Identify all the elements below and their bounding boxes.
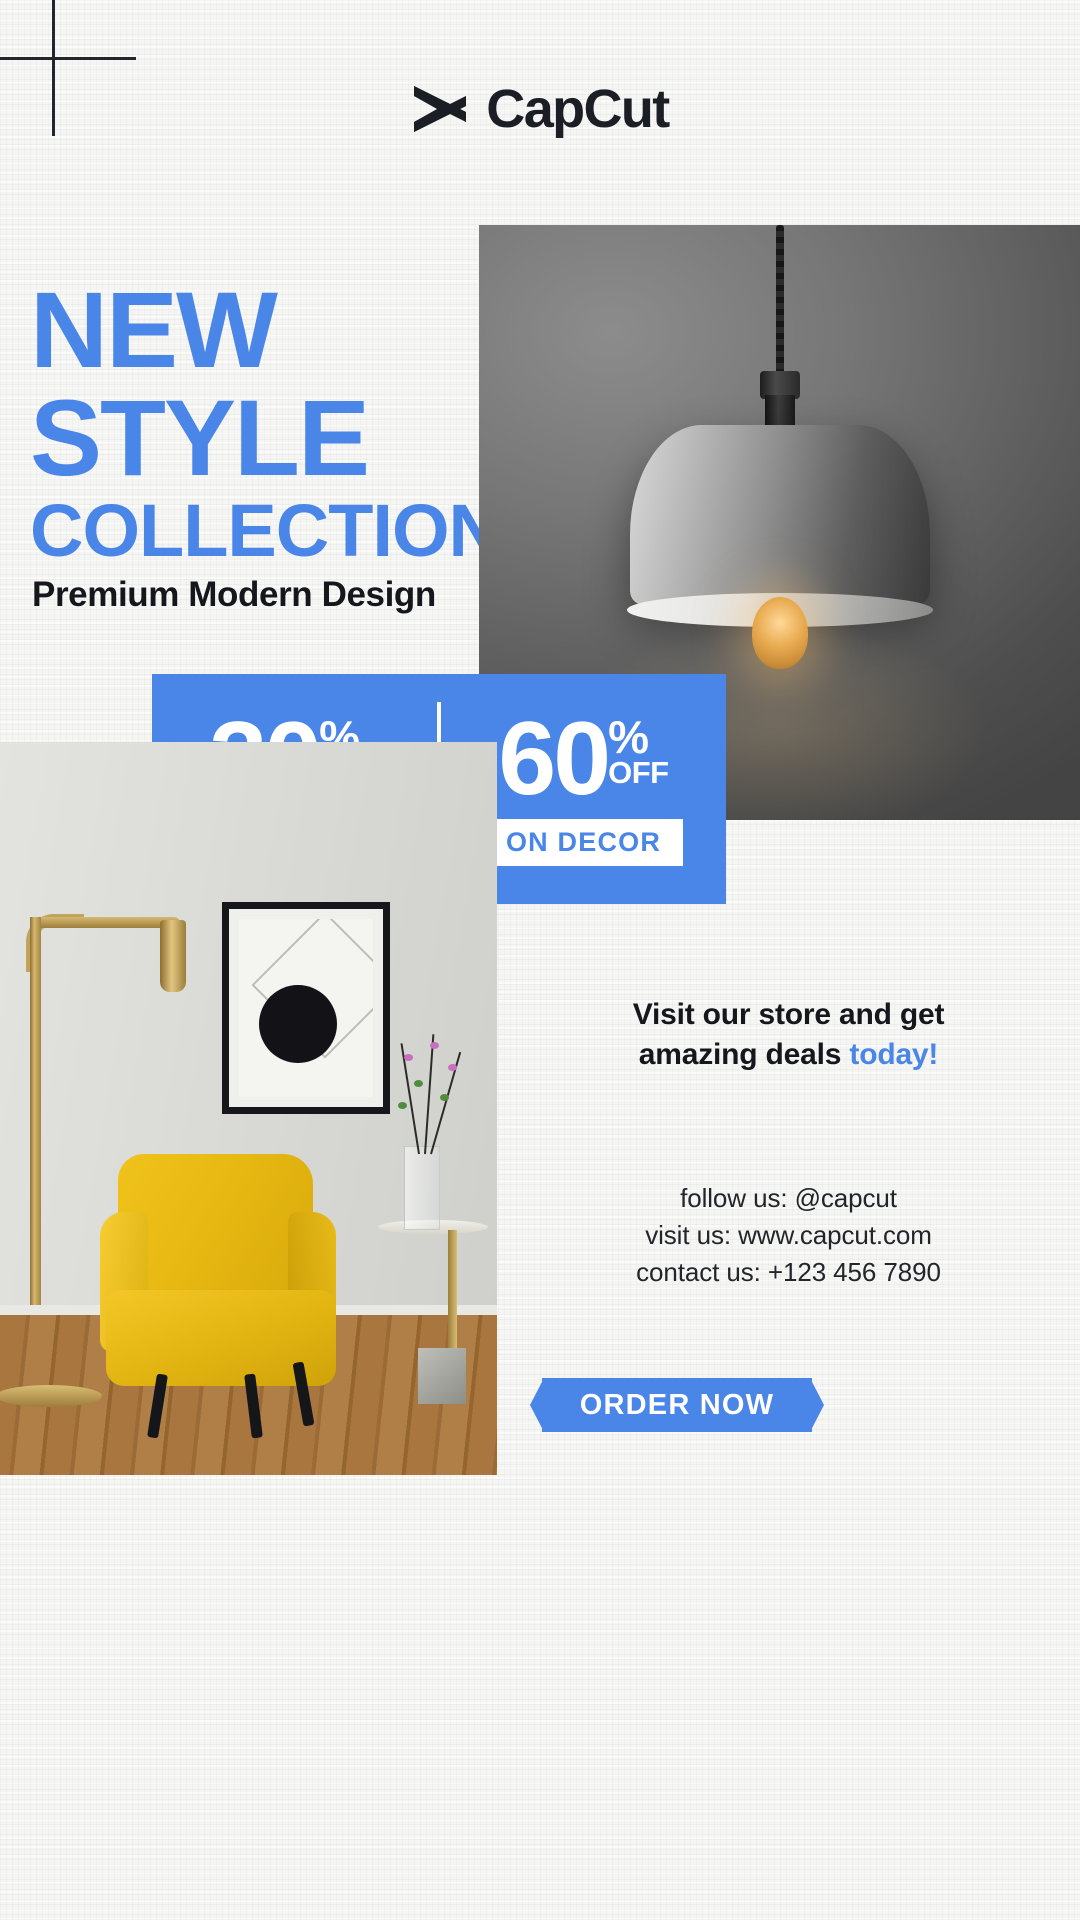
discount-decor-number: 60 [498, 712, 608, 808]
side-table-foot [418, 1348, 466, 1404]
headline-block: NEW STYLE COLLECTION [30, 278, 530, 566]
headline-subtitle: Premium Modern Design [32, 575, 436, 615]
flower-blossom [404, 1054, 413, 1061]
cta-copy-accent: today! [849, 1038, 938, 1071]
discount-decor-value: 60 % OFF [498, 712, 668, 808]
order-now-body[interactable]: ORDER NOW [542, 1378, 812, 1432]
discount-decor-pill: ON DECOR [484, 819, 683, 866]
discount-decor-off: OFF [608, 757, 669, 788]
wall-art-circle [259, 985, 337, 1063]
cta-copy: Visit our store and get amazing deals to… [497, 995, 1080, 1075]
order-now-label: ORDER NOW [580, 1389, 774, 1422]
ribbon-tail-right-icon [810, 1378, 824, 1432]
side-table-leg [448, 1230, 457, 1358]
flower-leaf [414, 1080, 423, 1087]
brand-logo: CapCut [0, 82, 1080, 136]
order-now-button[interactable]: ORDER NOW [530, 1378, 824, 1432]
lamp-shade [630, 425, 930, 605]
contact-follow[interactable]: follow us: @capcut [497, 1180, 1080, 1217]
flower-leaf [398, 1102, 407, 1109]
floor-lamp-base [0, 1385, 102, 1407]
cta-copy-plain: amazing deals [639, 1038, 850, 1071]
capcut-logo-icon [411, 83, 469, 135]
flower-blossom [448, 1064, 457, 1071]
yellow-armchair-room-photo [0, 742, 497, 1475]
crop-mark-horizontal-icon [0, 57, 136, 60]
contact-block: follow us: @capcut visit us: www.capcut.… [497, 1180, 1080, 1291]
flower-blossom [430, 1042, 439, 1049]
floor-lamp-arm [30, 917, 180, 928]
cta-copy-line-1: Visit our store and get [497, 995, 1080, 1035]
brand-name: CapCut [486, 82, 668, 136]
wall-art-canvas [239, 919, 373, 1097]
contact-phone[interactable]: contact us: +123 456 7890 [497, 1254, 1080, 1291]
cta-copy-line-2: amazing deals today! [497, 1035, 1080, 1075]
flower-leaf [440, 1094, 449, 1101]
headline-line-1: NEW [30, 278, 530, 382]
poster-canvas: CapCut NEW STYLE COLLECTION Premium Mode… [0, 0, 1080, 1920]
headline-line-3: COLLECTION [30, 495, 530, 566]
discount-decor-symbol: % [608, 718, 649, 757]
headline-line-2: STYLE [30, 386, 530, 490]
lamp-cord [776, 225, 784, 375]
floor-lamp-head [160, 920, 186, 992]
wall-art-frame [222, 902, 390, 1114]
contact-website[interactable]: visit us: www.capcut.com [497, 1217, 1080, 1254]
flower-vase [404, 1146, 440, 1230]
